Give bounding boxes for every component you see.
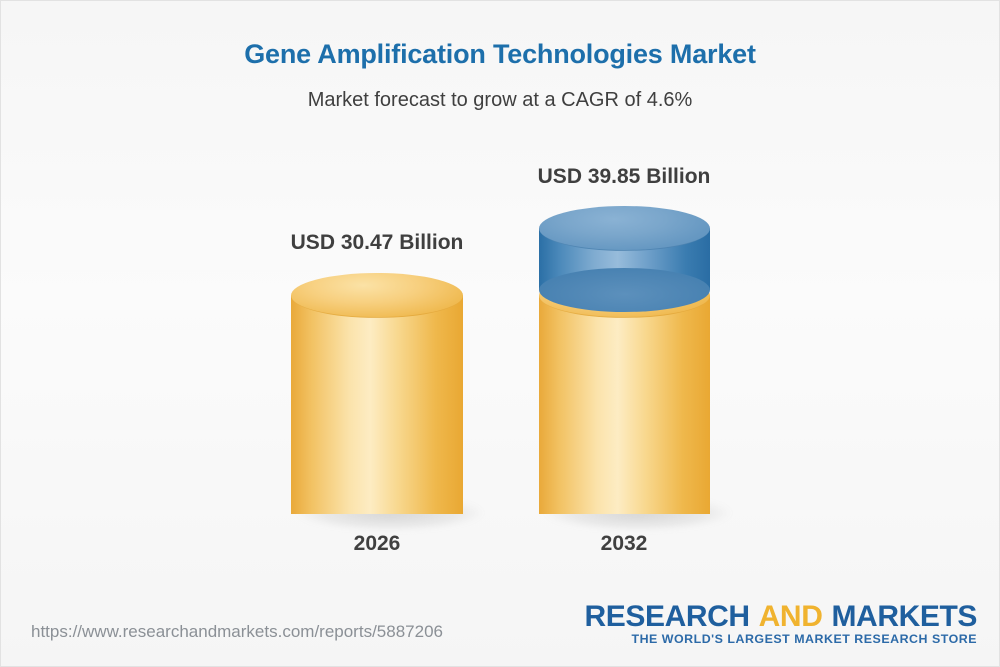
value-label-2026: USD 30.47 Billion xyxy=(227,231,527,255)
bar-body-2026 xyxy=(291,295,463,514)
brand-tagline: THE WORLD'S LARGEST MARKET RESEARCH STOR… xyxy=(585,632,977,648)
category-label-2032: 2032 xyxy=(474,532,774,556)
brand-wordmark: RESEARCHANDMARKETS xyxy=(585,601,977,632)
brand-logo[interactable]: RESEARCHANDMARKETS THE WORLD'S LARGEST M… xyxy=(585,601,977,648)
bar-cylinder-2032[interactable] xyxy=(539,206,710,514)
bar-top-ellipse-growth-2032 xyxy=(539,206,710,251)
bar-top-ellipse-2026 xyxy=(291,273,463,318)
plot-area: USD 30.47 Billion 2026 USD 39.85 Billion xyxy=(1,1,1000,601)
bar-cylinder-2026[interactable] xyxy=(291,273,463,514)
bar-segment-base-2026 xyxy=(291,273,463,514)
brand-word-markets: MARKETS xyxy=(831,600,977,633)
chart-card: Gene Amplification Technologies Market M… xyxy=(0,0,1000,667)
bar-body-base-2032 xyxy=(539,295,710,514)
value-label-2032: USD 39.85 Billion xyxy=(474,165,774,189)
bar-segment-growth-2032 xyxy=(539,206,710,311)
brand-word-research: RESEARCH xyxy=(585,600,750,633)
source-url[interactable]: https://www.researchandmarkets.com/repor… xyxy=(31,622,443,642)
brand-word-and: AND xyxy=(759,600,823,633)
bar-bottom-ellipse-growth-2032 xyxy=(539,268,710,312)
